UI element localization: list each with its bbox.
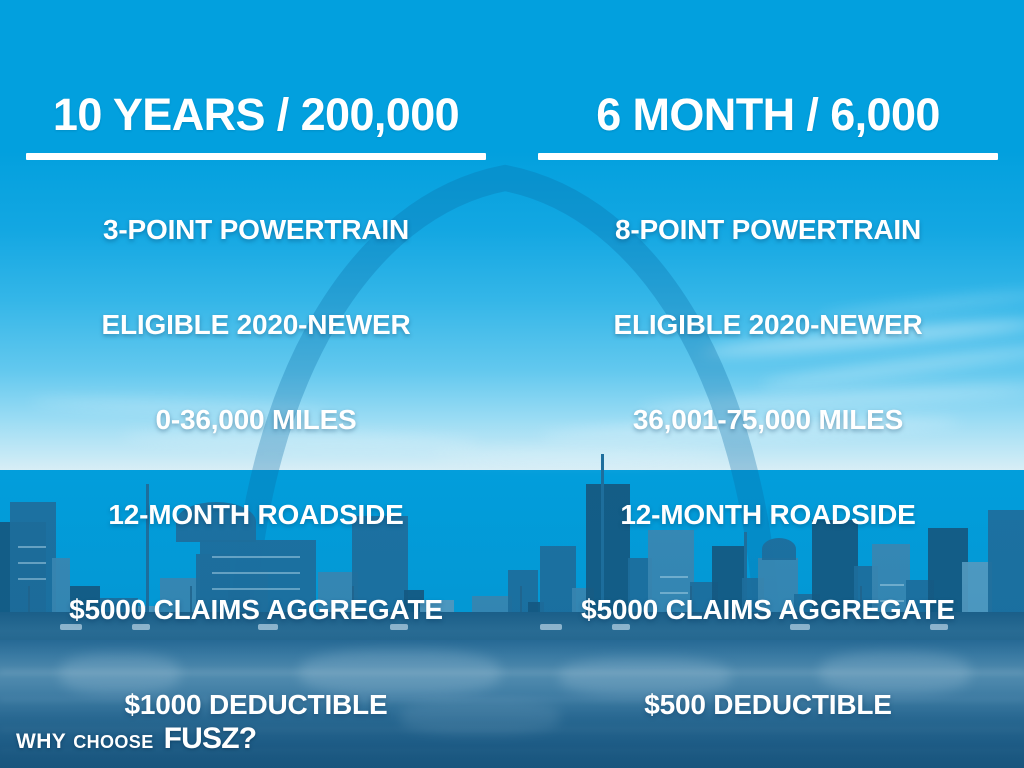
feature-row: 3-POINT POWERTRAIN 8-POINT POWERTRAIN [0,182,1024,277]
plan-column-right: 6 MONTH / 6,000 [512,0,1024,160]
feature-cell-left: 12-MONTH ROADSIDE [0,499,512,531]
feature-row: ELIGIBLE 2020-NEWER ELIGIBLE 2020-NEWER [0,277,1024,372]
feature-cell-left: $5000 CLAIMS AGGREGATE [0,594,512,626]
heading-underline-left [26,153,486,160]
feature-cell-right: 12-MONTH ROADSIDE [512,499,1024,531]
feature-cell-left: 0-36,000 MILES [0,404,512,436]
plan-column-left: 10 YEARS / 200,000 [0,0,512,160]
feature-cell-right: 8-POINT POWERTRAIN [512,214,1024,246]
feature-row: 12-MONTH ROADSIDE 12-MONTH ROADSIDE [0,467,1024,562]
promo-slide: 10 YEARS / 200,000 6 MONTH / 6,000 3-POI… [0,0,1024,768]
slide-content: 10 YEARS / 200,000 6 MONTH / 6,000 3-POI… [0,0,1024,768]
feature-rows: 3-POINT POWERTRAIN 8-POINT POWERTRAIN EL… [0,182,1024,752]
brand-name: FUSZ? [164,722,257,756]
brand-tagline: WHY CHOOSE FUSZ? [16,722,256,756]
feature-row: 0-36,000 MILES 36,001-75,000 MILES [0,372,1024,467]
feature-cell-right: ELIGIBLE 2020-NEWER [512,309,1024,341]
heading-underline-right [538,153,998,160]
feature-cell-right: $500 DEDUCTIBLE [512,689,1024,721]
plan-heading-left: 10 YEARS / 200,000 [0,0,512,137]
brand-choose: CHOOSE [73,732,153,753]
feature-cell-right: 36,001-75,000 MILES [512,404,1024,436]
feature-cell-left: $1000 DEDUCTIBLE [0,689,512,721]
feature-row: $5000 CLAIMS AGGREGATE $5000 CLAIMS AGGR… [0,562,1024,657]
feature-cell-left: ELIGIBLE 2020-NEWER [0,309,512,341]
feature-cell-right: $5000 CLAIMS AGGREGATE [512,594,1024,626]
plan-headings: 10 YEARS / 200,000 6 MONTH / 6,000 [0,0,1024,160]
plan-heading-right: 6 MONTH / 6,000 [512,0,1024,137]
feature-cell-left: 3-POINT POWERTRAIN [0,214,512,246]
brand-why: WHY [16,730,66,754]
